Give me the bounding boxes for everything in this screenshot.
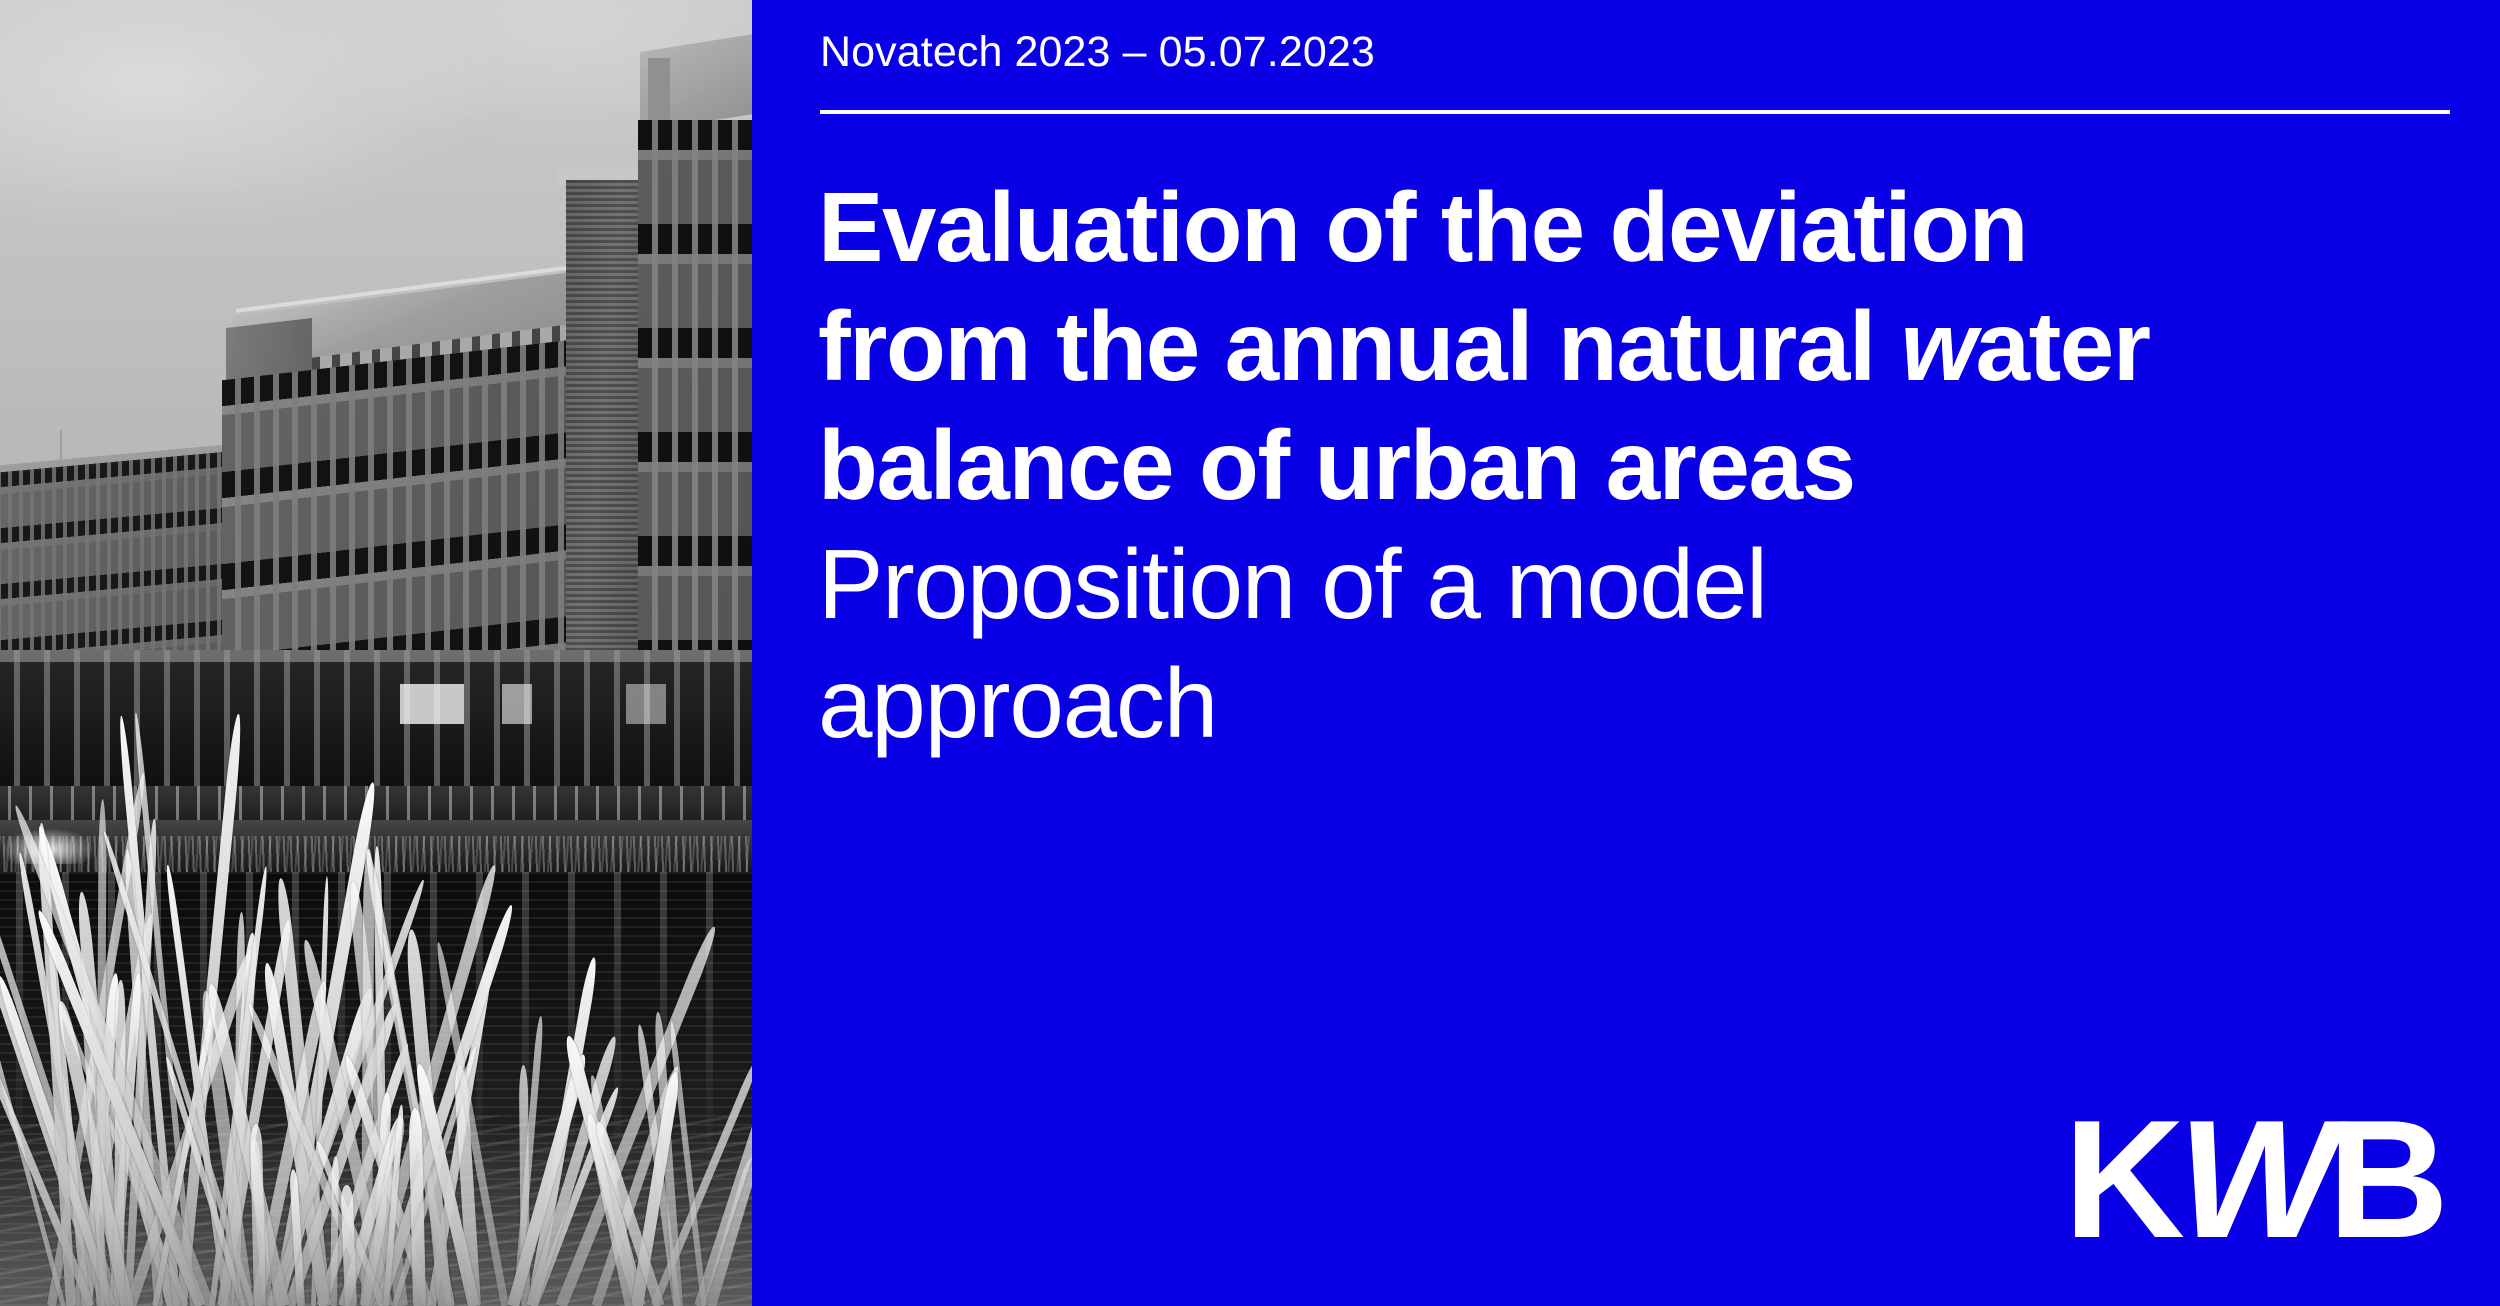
title-line-1: Evaluation of the deviation [818, 168, 2500, 287]
reed-blade [330, 1156, 339, 1306]
title-slide: Novatech 2023 – 05.07.2023 Evaluation of… [0, 0, 2500, 1306]
logo-letter-w: W [2178, 1106, 2330, 1254]
event-name-and-date: Novatech 2023 – 05.07.2023 [820, 26, 2450, 80]
title-block: Evaluation of the deviation from the ann… [818, 168, 2500, 763]
logo-letter-k: K [2064, 1106, 2180, 1254]
event-header: Novatech 2023 – 05.07.2023 [820, 26, 2450, 80]
subtitle-line-2: approach [818, 644, 2500, 763]
logo-letter-b: B [2328, 1106, 2444, 1254]
title-line-3: balance of urban areas [818, 406, 2500, 525]
header-divider-rule [820, 110, 2450, 114]
foreground-reeds [0, 690, 752, 1306]
title-line-2-head: from the annual natural [818, 291, 1901, 401]
kwb-logo: KWB [2064, 1106, 2444, 1254]
hero-photograph [0, 0, 752, 1306]
title-italic-w: w [1901, 291, 1976, 401]
subtitle-line-1: Proposition of a model [818, 525, 2500, 644]
title-line-2-tail: ater [1975, 291, 2149, 401]
title-line-2: from the annual natural water [818, 287, 2500, 406]
chimney [648, 58, 670, 120]
content-panel: Novatech 2023 – 05.07.2023 Evaluation of… [752, 0, 2500, 1306]
